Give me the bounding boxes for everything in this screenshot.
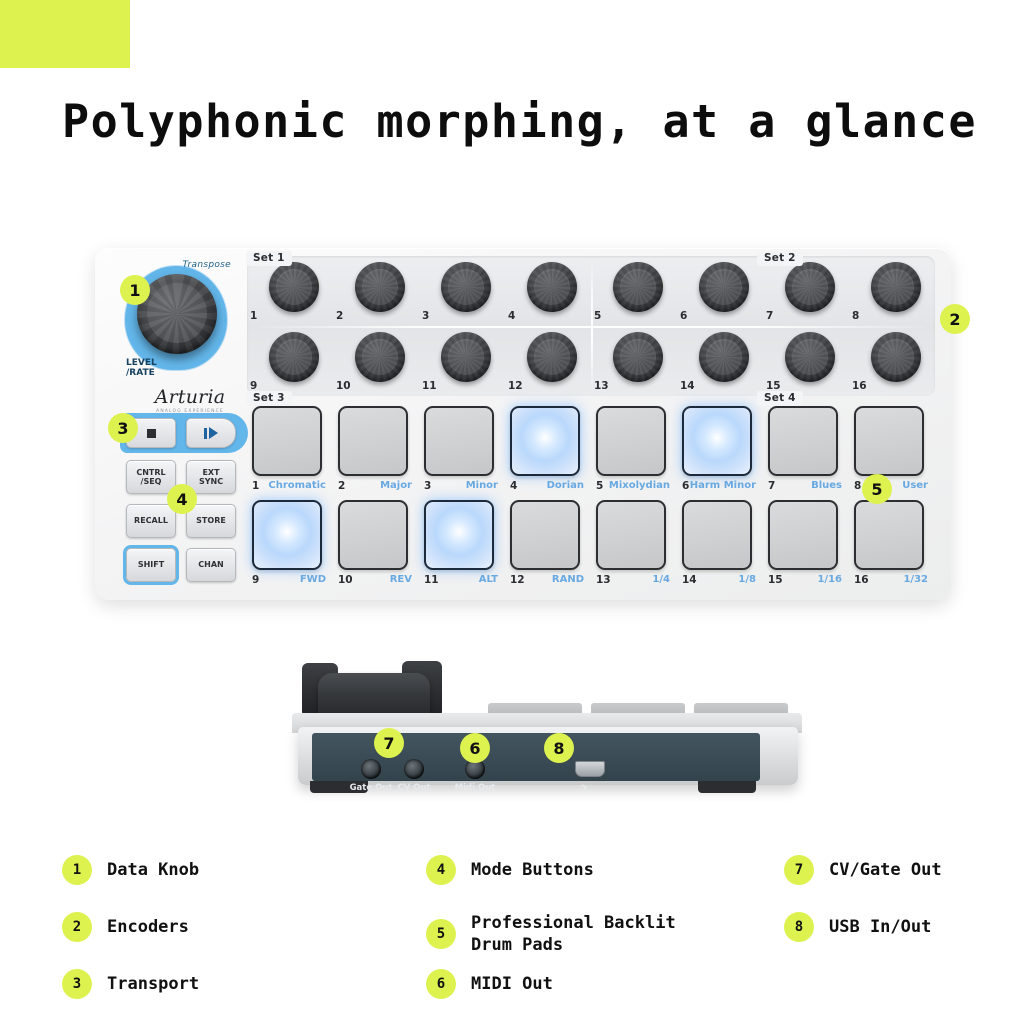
- encoder-number-10: 10: [336, 380, 351, 392]
- pad-5[interactable]: 5Mixolydian: [591, 404, 677, 498]
- pad-surface-11[interactable]: [424, 500, 494, 570]
- encoder-2[interactable]: 2: [333, 256, 419, 326]
- pad-surface-2[interactable]: [338, 406, 408, 476]
- encoder-knob-10[interactable]: [355, 332, 405, 382]
- legend-item-5: 5Professional Backlit Drum Pads: [426, 912, 676, 956]
- encoder-number-11: 11: [422, 380, 437, 392]
- encoder-knob-16[interactable]: [871, 332, 921, 382]
- encoder-number-4: 4: [508, 310, 515, 322]
- encoder-number-16: 16: [852, 380, 867, 392]
- pad-function-2: Major: [380, 480, 412, 491]
- encoder-10[interactable]: 10: [333, 326, 419, 396]
- encoder-knob-2[interactable]: [355, 262, 405, 312]
- legend-item-1: 1Data Knob: [62, 855, 199, 885]
- mode-button-cntrl-seq-line2: /SEQ: [141, 477, 162, 487]
- pad-number-11: 11: [424, 574, 439, 586]
- gate-out-jack[interactable]: [361, 759, 381, 779]
- legend-label-2: Encoders: [107, 916, 189, 938]
- pad-10[interactable]: 10REV: [333, 498, 419, 592]
- encoder-15[interactable]: 15: [763, 326, 849, 396]
- pad-function-13: 1/4: [652, 574, 670, 585]
- callout-badge-4: 4: [167, 484, 197, 514]
- usb-icon: ↷: [580, 780, 588, 795]
- pad-12[interactable]: 12RAND: [505, 498, 591, 592]
- pad-number-5: 5: [596, 480, 603, 492]
- encoder-knob-14[interactable]: [699, 332, 749, 382]
- pad-function-1: Chromatic: [268, 480, 326, 491]
- encoder-number-1: 1: [250, 310, 257, 322]
- pad-1[interactable]: 1Chromatic: [247, 404, 333, 498]
- mode-button-chan[interactable]: CHAN: [186, 548, 236, 582]
- pad-function-11: ALT: [479, 574, 498, 585]
- set-label-3: Set 3: [246, 391, 292, 406]
- encoder-knob-7[interactable]: [785, 262, 835, 312]
- pad-6[interactable]: 6Harm Minor: [677, 404, 763, 498]
- pad-function-5: Mixolydian: [609, 480, 670, 491]
- mode-button-cntrl-seq[interactable]: CNTRL /SEQ: [126, 460, 176, 494]
- set-label-1: Set 1: [246, 251, 292, 266]
- encoder-knob-12[interactable]: [527, 332, 577, 382]
- pad-function-10: REV: [390, 574, 412, 585]
- pad-14[interactable]: 141/8: [677, 498, 763, 592]
- encoder-14[interactable]: 14: [677, 326, 763, 396]
- legend-label-3: Transport: [107, 973, 199, 995]
- legend-number-2: 2: [62, 912, 92, 942]
- pad-function-12: RAND: [552, 574, 584, 585]
- mode-button-shift[interactable]: SHIFT: [126, 548, 176, 582]
- pad-surface-3[interactable]: [424, 406, 494, 476]
- pad-function-6: Harm Minor: [690, 480, 756, 491]
- legend-label-7: CV/Gate Out: [829, 859, 942, 881]
- encoder-knob-13[interactable]: [613, 332, 663, 382]
- encoder-number-12: 12: [508, 380, 523, 392]
- callout-badge-5: 5: [862, 474, 892, 504]
- pad-surface-4[interactable]: [510, 406, 580, 476]
- encoder-number-3: 3: [422, 310, 429, 322]
- encoder-knob-3[interactable]: [441, 262, 491, 312]
- pad-number-6: 6: [682, 480, 689, 492]
- encoder-number-2: 2: [336, 310, 343, 322]
- pad-16[interactable]: 161/32: [849, 498, 935, 592]
- encoder-8[interactable]: 8: [849, 256, 935, 326]
- page-title: Polyphonic morphing, at a glance: [62, 95, 977, 148]
- pad-13[interactable]: 131/4: [591, 498, 677, 592]
- brand-name: Arturia: [143, 386, 237, 408]
- callout-badge-7: 7: [374, 728, 404, 758]
- encoder-knob-11[interactable]: [441, 332, 491, 382]
- encoder-number-5: 5: [594, 310, 601, 322]
- legend-number-6: 6: [426, 969, 456, 999]
- pad-number-14: 14: [682, 574, 697, 586]
- legend-label-8: USB In/Out: [829, 916, 931, 938]
- pad-surface-1[interactable]: [252, 406, 322, 476]
- set-label-4: Set 4: [757, 391, 803, 406]
- legend-number-3: 3: [62, 969, 92, 999]
- encoder-number-7: 7: [766, 310, 773, 322]
- pad-surface-7[interactable]: [768, 406, 838, 476]
- encoder-number-13: 13: [594, 380, 609, 392]
- midi-out-label: Midi Out: [455, 783, 496, 793]
- legend-label-4: Mode Buttons: [471, 859, 594, 881]
- pad-surface-12[interactable]: [510, 500, 580, 570]
- pad-number-9: 9: [252, 574, 259, 586]
- legend-label-6: MIDI Out: [471, 973, 553, 995]
- mode-button-store-label: STORE: [196, 516, 226, 526]
- callout-badge-1: 1: [120, 275, 150, 305]
- mode-button-store[interactable]: STORE: [186, 504, 236, 538]
- pad-surface-9[interactable]: [252, 500, 322, 570]
- pad-number-1: 1: [252, 480, 259, 492]
- legend-number-1: 1: [62, 855, 92, 885]
- encoder-number-8: 8: [852, 310, 859, 322]
- pad-surface-8[interactable]: [854, 406, 924, 476]
- pad-number-4: 4: [510, 480, 517, 492]
- legend-item-4: 4Mode Buttons: [426, 855, 594, 885]
- pad-number-3: 3: [424, 480, 431, 492]
- pad-function-4: Dorian: [547, 480, 584, 491]
- pad-function-8: User: [902, 480, 928, 491]
- mode-button-chan-label: CHAN: [198, 560, 223, 570]
- gate-out-label: Gate Out: [350, 783, 393, 793]
- pad-function-3: Minor: [466, 480, 498, 491]
- encoder-3[interactable]: 3: [419, 256, 505, 326]
- encoder-knob-5[interactable]: [613, 262, 663, 312]
- legend-number-8: 8: [784, 912, 814, 942]
- legend: 1Data Knob2Encoders3Transport 4Mode Butt…: [62, 855, 982, 1015]
- encoder-number-14: 14: [680, 380, 695, 392]
- encoder-row-top: 12345678: [247, 256, 935, 326]
- brand-logo: Arturia ANALOG EXPERIENCE: [143, 386, 237, 414]
- encoder-16[interactable]: 16: [849, 326, 935, 396]
- legend-item-8: 8USB In/Out: [784, 912, 931, 942]
- usb-port[interactable]: [575, 761, 605, 777]
- encoder-9[interactable]: 9: [247, 326, 333, 396]
- pad-number-10: 10: [338, 574, 353, 586]
- pad-3[interactable]: 3Minor: [419, 404, 505, 498]
- pad-number-15: 15: [768, 574, 783, 586]
- pad-number-13: 13: [596, 574, 611, 586]
- pad-surface-10[interactable]: [338, 500, 408, 570]
- encoder-knob-15[interactable]: [785, 332, 835, 382]
- legend-number-4: 4: [426, 855, 456, 885]
- encoder-12[interactable]: 12: [505, 326, 591, 396]
- encoder-7[interactable]: 7: [763, 256, 849, 326]
- device-top-view: Transpose LEVEL/RATE Arturia ANALOG EXPE…: [95, 248, 951, 600]
- mode-button-cntrl-seq-line1: CNTRL: [136, 468, 165, 478]
- pad-number-7: 7: [768, 480, 775, 492]
- pad-15[interactable]: 151/16: [763, 498, 849, 592]
- cv-out-label: CV Out: [397, 783, 430, 793]
- pad-function-15: 1/16: [817, 574, 842, 585]
- legend-item-7: 7CV/Gate Out: [784, 855, 942, 885]
- pad-surface-15[interactable]: [768, 500, 838, 570]
- level-rate-label: LEVEL/RATE: [126, 358, 157, 378]
- pad-number-16: 16: [854, 574, 869, 586]
- play-icon: [204, 427, 218, 439]
- encoder-5[interactable]: 5: [591, 256, 677, 326]
- pad-surface-13[interactable]: [596, 500, 666, 570]
- encoder-4[interactable]: 4: [505, 256, 591, 326]
- transpose-label: Transpose: [182, 260, 231, 270]
- legend-number-5: 5: [426, 919, 456, 949]
- callout-badge-3: 3: [108, 413, 138, 443]
- mode-button-ext-sync-line1: EXT: [202, 468, 219, 478]
- play-pause-button[interactable]: [186, 418, 236, 448]
- transport-group: [120, 413, 248, 453]
- legend-label-1: Data Knob: [107, 859, 199, 881]
- legend-number-7: 7: [784, 855, 814, 885]
- callout-badge-8: 8: [544, 733, 574, 763]
- pad-number-12: 12: [510, 574, 525, 586]
- legend-label-5: Professional Backlit Drum Pads: [471, 912, 676, 956]
- callout-badge-6: 6: [460, 733, 490, 763]
- pad-11[interactable]: 11ALT: [419, 498, 505, 592]
- pad-surface-16[interactable]: [854, 500, 924, 570]
- legend-item-2: 2Encoders: [62, 912, 189, 942]
- pad-function-9: FWD: [300, 574, 326, 585]
- set-label-2: Set 2: [757, 251, 803, 266]
- encoder-knob-8[interactable]: [871, 262, 921, 312]
- encoder-knob-4[interactable]: [527, 262, 577, 312]
- pad-9[interactable]: 9FWD: [247, 498, 333, 592]
- mode-button-ext-sync-line2: SYNC: [199, 477, 223, 487]
- mode-button-recall-label: RECALL: [134, 516, 168, 526]
- mode-button-recall[interactable]: RECALL: [126, 504, 176, 538]
- encoder-knob-9[interactable]: [269, 332, 319, 382]
- encoder-knob-6[interactable]: [699, 262, 749, 312]
- callout-badge-2: 2: [940, 304, 970, 334]
- encoder-1[interactable]: 1: [247, 256, 333, 326]
- stop-icon: [147, 429, 156, 438]
- encoder-row-bottom: 910111213141516: [247, 326, 935, 396]
- pad-number-8: 8: [854, 480, 861, 492]
- legend-item-3: 3Transport: [62, 969, 199, 999]
- pad-function-16: 1/32: [903, 574, 928, 585]
- encoder-6[interactable]: 6: [677, 256, 763, 326]
- encoder-13[interactable]: 13: [591, 326, 677, 396]
- cv-out-jack[interactable]: [404, 759, 424, 779]
- pad-function-14: 1/8: [738, 574, 756, 585]
- pad-surface-5[interactable]: [596, 406, 666, 476]
- side-foot-right: [698, 781, 756, 793]
- encoder-11[interactable]: 11: [419, 326, 505, 396]
- encoder-number-6: 6: [680, 310, 687, 322]
- accent-block: [0, 0, 130, 68]
- pad-surface-6[interactable]: [682, 406, 752, 476]
- encoder-knob-1[interactable]: [269, 262, 319, 312]
- pad-number-2: 2: [338, 480, 345, 492]
- pad-surface-14[interactable]: [682, 500, 752, 570]
- encoder-block: 12345678 910111213141516: [247, 256, 935, 396]
- pad-7[interactable]: 7Blues: [763, 404, 849, 498]
- legend-item-6: 6MIDI Out: [426, 969, 553, 999]
- pad-block: 1Chromatic2Major3Minor4Dorian5Mixolydian…: [247, 404, 935, 592]
- mode-button-shift-label: SHIFT: [138, 560, 164, 570]
- pad-2[interactable]: 2Major: [333, 404, 419, 498]
- pad-function-7: Blues: [811, 480, 842, 491]
- pad-4[interactable]: 4Dorian: [505, 404, 591, 498]
